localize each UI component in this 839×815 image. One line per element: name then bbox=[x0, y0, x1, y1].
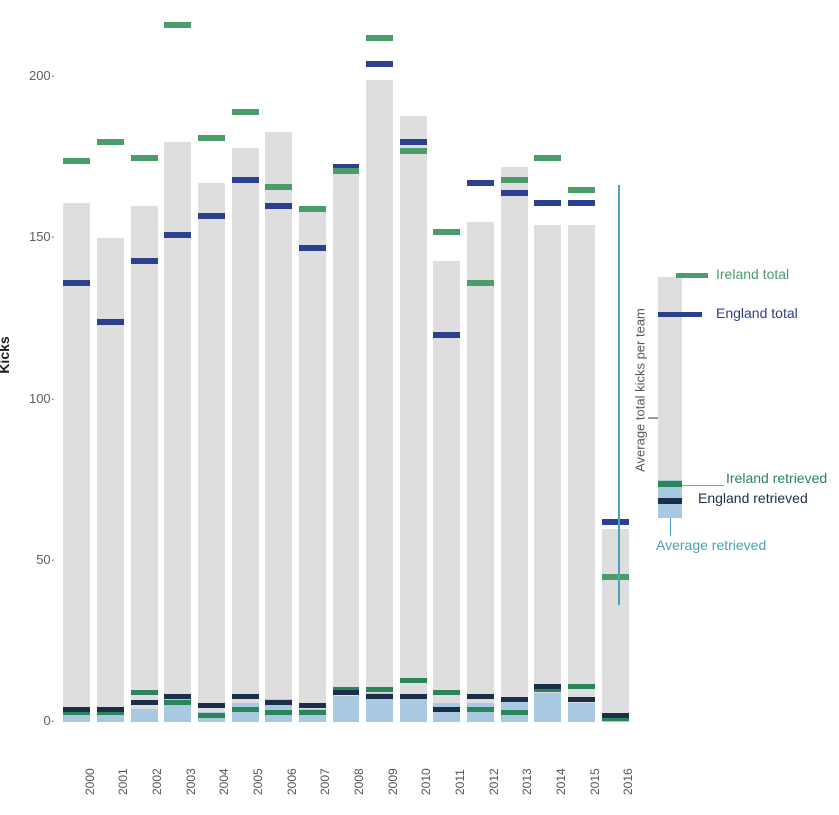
bar-group[interactable] bbox=[400, 721, 427, 722]
bar-group[interactable] bbox=[602, 721, 629, 722]
marker-ireland-retrieved[interactable] bbox=[131, 690, 158, 695]
marker-england-total[interactable] bbox=[299, 245, 326, 251]
legend-label-average-retrieved[interactable]: Average retrieved bbox=[656, 537, 766, 553]
bar-average-total[interactable] bbox=[232, 148, 259, 722]
x-axis-label: 2009 bbox=[386, 768, 400, 795]
y-axis-tick-label: 150· bbox=[29, 229, 55, 244]
marker-england-retrieved[interactable] bbox=[232, 694, 259, 699]
y-axis-tick-label: 100· bbox=[29, 391, 55, 406]
marker-ireland-retrieved[interactable] bbox=[467, 707, 494, 712]
bar-average-retrieved[interactable] bbox=[433, 703, 460, 722]
marker-england-total[interactable] bbox=[232, 177, 259, 183]
marker-ireland-total[interactable] bbox=[568, 187, 595, 193]
marker-england-retrieved[interactable] bbox=[131, 700, 158, 705]
marker-ireland-retrieved[interactable] bbox=[299, 710, 326, 715]
legend-label-england-total[interactable]: England total bbox=[716, 305, 798, 321]
marker-england-retrieved[interactable] bbox=[97, 707, 124, 712]
marker-england-retrieved[interactable] bbox=[198, 703, 225, 708]
bar-average-total[interactable] bbox=[366, 80, 393, 722]
bar-average-total[interactable] bbox=[164, 142, 191, 723]
marker-ireland-retrieved[interactable] bbox=[501, 710, 528, 715]
legend-england-retrieved-segment bbox=[658, 498, 682, 504]
marker-england-total[interactable] bbox=[366, 61, 393, 67]
legend-swatch-england-total bbox=[658, 312, 702, 317]
x-axis-label: 2005 bbox=[251, 768, 265, 795]
marker-england-total[interactable] bbox=[63, 280, 90, 286]
marker-ireland-retrieved[interactable] bbox=[400, 678, 427, 683]
legend-label-england-retrieved[interactable]: England retrieved bbox=[698, 490, 808, 506]
legend-ireland-retrieved-segment bbox=[658, 481, 682, 487]
marker-ireland-total[interactable] bbox=[131, 155, 158, 161]
y-axis-tick-label: 200· bbox=[29, 68, 55, 83]
marker-england-retrieved[interactable] bbox=[400, 694, 427, 699]
x-axis-label: 2001 bbox=[116, 768, 130, 795]
marker-england-total[interactable] bbox=[534, 200, 561, 206]
marker-ireland-total[interactable] bbox=[63, 158, 90, 164]
marker-england-total[interactable] bbox=[131, 258, 158, 264]
marker-england-total[interactable] bbox=[400, 139, 427, 145]
marker-england-total[interactable] bbox=[568, 200, 595, 206]
bar-group[interactable] bbox=[232, 721, 259, 722]
bar-average-total[interactable] bbox=[265, 132, 292, 722]
bar-group[interactable] bbox=[333, 721, 360, 722]
bar-average-total[interactable] bbox=[97, 238, 124, 722]
bar-group[interactable] bbox=[501, 721, 528, 722]
bar-group[interactable] bbox=[433, 721, 460, 722]
legend-swatch-ireland-total bbox=[676, 273, 708, 278]
marker-ireland-total[interactable] bbox=[467, 280, 494, 286]
marker-ireland-total[interactable] bbox=[97, 139, 124, 145]
bar-group[interactable] bbox=[97, 721, 124, 722]
marker-england-retrieved[interactable] bbox=[299, 703, 326, 708]
marker-ireland-total[interactable] bbox=[366, 35, 393, 41]
x-axis-label: 2010 bbox=[419, 768, 433, 795]
bar-average-retrieved[interactable] bbox=[467, 703, 494, 722]
y-axis-ticks: 0·50·100·150·200· bbox=[0, 0, 55, 815]
marker-ireland-total[interactable] bbox=[501, 177, 528, 183]
chart-legend: Average total kicks per team Ireland tot… bbox=[618, 185, 839, 605]
legend-total-bar-swatch bbox=[658, 277, 682, 503]
legend-axis-tick bbox=[648, 417, 658, 419]
bar-average-total[interactable] bbox=[400, 116, 427, 722]
bar-average-total[interactable] bbox=[534, 225, 561, 722]
marker-england-retrieved[interactable] bbox=[366, 694, 393, 699]
marker-ireland-total[interactable] bbox=[198, 135, 225, 141]
marker-england-retrieved[interactable] bbox=[433, 707, 460, 712]
x-axis-label: 2004 bbox=[217, 768, 231, 795]
x-axis-label: 2016 bbox=[621, 768, 635, 795]
legend-divider-rule bbox=[618, 185, 620, 605]
marker-england-retrieved[interactable] bbox=[63, 707, 90, 712]
marker-england-retrieved[interactable] bbox=[534, 684, 561, 689]
marker-england-total[interactable] bbox=[164, 232, 191, 238]
marker-england-total[interactable] bbox=[501, 190, 528, 196]
bar-group[interactable] bbox=[534, 721, 561, 722]
marker-england-total[interactable] bbox=[433, 332, 460, 338]
marker-ireland-retrieved[interactable] bbox=[232, 707, 259, 712]
bar-average-retrieved[interactable] bbox=[534, 693, 561, 722]
bar-average-total[interactable] bbox=[299, 209, 326, 722]
marker-england-retrieved[interactable] bbox=[467, 694, 494, 699]
bar-group[interactable] bbox=[63, 721, 90, 722]
bar-average-total[interactable] bbox=[131, 206, 158, 722]
marker-england-retrieved[interactable] bbox=[501, 697, 528, 702]
marker-ireland-total[interactable] bbox=[164, 22, 191, 28]
marker-england-retrieved[interactable] bbox=[333, 690, 360, 695]
x-axis-label: 2002 bbox=[150, 768, 164, 795]
x-axis-label: 2003 bbox=[184, 768, 198, 795]
chart-root: Kicks 0·50·100·150·200· 2000200120022003… bbox=[0, 0, 839, 815]
bar-average-total[interactable] bbox=[433, 261, 460, 722]
marker-ireland-total[interactable] bbox=[534, 155, 561, 161]
bar-group[interactable] bbox=[265, 721, 292, 722]
marker-ireland-retrieved[interactable] bbox=[198, 713, 225, 718]
x-axis-label: 2011 bbox=[453, 769, 467, 795]
plot-area bbox=[60, 20, 632, 730]
bar-group[interactable] bbox=[467, 721, 494, 722]
bar-average-total[interactable] bbox=[198, 183, 225, 722]
marker-ireland-total[interactable] bbox=[265, 184, 292, 190]
marker-ireland-total[interactable] bbox=[433, 229, 460, 235]
marker-ireland-retrieved[interactable] bbox=[433, 690, 460, 695]
legend-label-ireland-retrieved[interactable]: Ireland retrieved bbox=[726, 470, 827, 486]
bar-average-retrieved[interactable] bbox=[333, 696, 360, 722]
y-axis-tick-label: 50· bbox=[36, 552, 55, 567]
marker-england-total[interactable] bbox=[467, 180, 494, 186]
bar-group[interactable] bbox=[299, 721, 326, 722]
marker-england-total[interactable] bbox=[97, 319, 124, 325]
x-axis-label: 2015 bbox=[588, 768, 602, 795]
marker-ireland-retrieved[interactable] bbox=[366, 687, 393, 692]
marker-ireland-total[interactable] bbox=[299, 206, 326, 212]
marker-england-retrieved[interactable] bbox=[602, 713, 629, 718]
legend-leader-ireland-retrieved bbox=[682, 485, 724, 486]
x-axis-label: 2014 bbox=[554, 768, 568, 795]
marker-england-total[interactable] bbox=[198, 213, 225, 219]
bar-average-total[interactable] bbox=[333, 167, 360, 722]
marker-ireland-total[interactable] bbox=[232, 109, 259, 115]
y-axis-tick-label: 0· bbox=[43, 713, 55, 728]
marker-ireland-total[interactable] bbox=[333, 168, 360, 174]
marker-england-retrieved[interactable] bbox=[568, 697, 595, 702]
legend-leader-average-retrieved bbox=[670, 518, 671, 536]
bar-group[interactable] bbox=[366, 721, 393, 722]
bar-group[interactable] bbox=[164, 721, 191, 722]
x-axis-label: 2013 bbox=[520, 768, 534, 795]
bar-group[interactable] bbox=[198, 721, 225, 722]
bar-group[interactable] bbox=[568, 721, 595, 722]
bar-group[interactable] bbox=[131, 721, 158, 722]
x-axis-label: 2007 bbox=[318, 768, 332, 795]
legend-total-bar-label: Average total kicks per team bbox=[633, 308, 648, 472]
marker-ireland-retrieved[interactable] bbox=[164, 700, 191, 705]
x-axis-label: 2012 bbox=[487, 768, 501, 795]
bar-average-retrieved[interactable] bbox=[232, 703, 259, 722]
marker-ireland-total[interactable] bbox=[400, 148, 427, 154]
bar-average-retrieved[interactable] bbox=[568, 703, 595, 722]
marker-england-retrieved[interactable] bbox=[265, 700, 292, 705]
bar-average-retrieved[interactable] bbox=[131, 709, 158, 722]
legend-label-ireland-total[interactable]: Ireland total bbox=[716, 266, 789, 282]
x-axis-label: 2006 bbox=[285, 768, 299, 795]
x-axis-label: 2000 bbox=[83, 768, 97, 795]
bar-average-total[interactable] bbox=[568, 225, 595, 722]
marker-ireland-retrieved[interactable] bbox=[568, 684, 595, 689]
x-axis-label: 2008 bbox=[352, 768, 366, 795]
marker-england-retrieved[interactable] bbox=[164, 694, 191, 699]
marker-ireland-retrieved[interactable] bbox=[265, 710, 292, 715]
bar-average-retrieved[interactable] bbox=[400, 699, 427, 722]
bar-average-total[interactable] bbox=[467, 222, 494, 722]
bar-average-total[interactable] bbox=[501, 167, 528, 722]
marker-england-total[interactable] bbox=[265, 203, 292, 209]
